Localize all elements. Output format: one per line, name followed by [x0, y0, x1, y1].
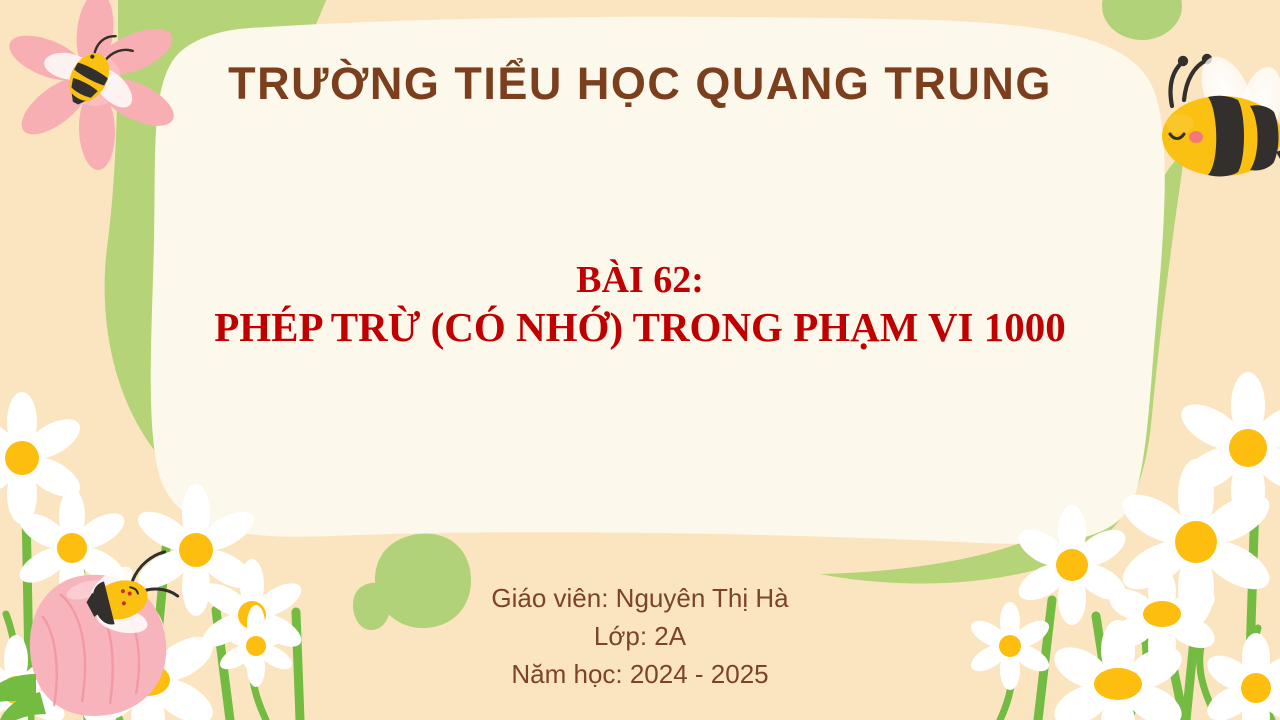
school-year: Năm học: 2024 - 2025: [340, 656, 940, 694]
footer-info: Giáo viên: Nguyên Thị Hà Lớp: 2A Năm học…: [340, 580, 940, 694]
lesson-title: PHÉP TRỪ (CÓ NHỚ) TRONG PHẠM VI 1000: [140, 303, 1140, 351]
lesson-heading: BÀI 62: PHÉP TRỪ (CÓ NHỚ) TRONG PHẠM VI …: [140, 258, 1140, 351]
bee-icon-top-right: [1162, 49, 1280, 177]
slide-canvas: TRƯỜNG TIỂU HỌC QUANG TRUNG BÀI 62: PHÉP…: [0, 0, 1280, 720]
meadow-bottom-left: [0, 392, 307, 720]
daisy-flower-icon: [967, 372, 1280, 720]
teacher-name: Giáo viên: Nguyên Thị Hà: [340, 580, 940, 618]
meadow-bottom-right: [967, 372, 1280, 720]
class-name: Lớp: 2A: [340, 618, 940, 656]
page-title: TRƯỜNG TIỂU HỌC QUANG TRUNG: [150, 58, 1130, 110]
lesson-number: BÀI 62:: [140, 258, 1140, 303]
